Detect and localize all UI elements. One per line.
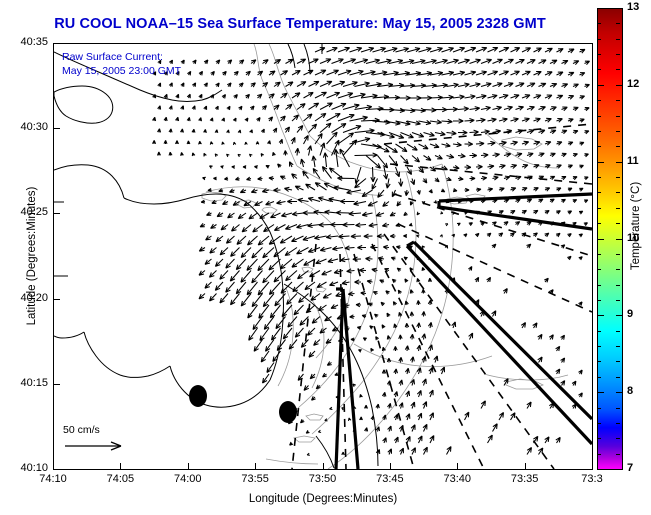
current-vector-arrow [453, 47, 465, 52]
current-vector-arrow [231, 294, 240, 305]
current-vector-arrow [315, 48, 325, 52]
current-vector-arrow [488, 118, 497, 122]
current-vector-arrow [511, 71, 520, 75]
current-vector-arrow [224, 177, 228, 180]
current-vector-arrow [338, 234, 349, 238]
current-vector-arrow [417, 323, 421, 328]
current-vector-arrow [533, 233, 537, 237]
current-vector-arrow [273, 128, 277, 133]
current-vector-arrow [153, 117, 156, 121]
current-vector-arrow [401, 156, 409, 164]
current-vector-arrow [211, 71, 215, 75]
current-vector-arrow [232, 225, 240, 232]
current-vector-arrow [257, 94, 262, 98]
colorbar-minor-tick [616, 438, 620, 439]
current-vector-arrow [521, 323, 525, 329]
current-vector-arrow [254, 340, 262, 352]
current-vector-arrow [376, 449, 380, 454]
current-vector-arrow [263, 60, 269, 64]
current-vector-arrow [504, 83, 513, 87]
current-vector-arrow [488, 188, 493, 192]
current-vector-arrow [492, 244, 496, 248]
x-axis-label: Longitude (Degrees:Minutes) [53, 493, 593, 505]
current-vector-arrow [192, 83, 195, 87]
current-vector-arrow [292, 174, 297, 179]
current-vector-arrow [397, 268, 401, 272]
current-vector-arrow [561, 335, 565, 340]
current-vector-arrow [309, 59, 319, 64]
current-vector-arrow [419, 144, 429, 149]
current-vector-arrow [580, 142, 584, 145]
current-vector-arrow [286, 82, 294, 87]
current-vector-arrow [269, 94, 274, 99]
current-vector-arrow [557, 142, 562, 146]
current-vector-arrow [281, 213, 292, 217]
current-vector-arrow [511, 188, 516, 192]
current-vector-arrow [476, 188, 481, 192]
current-vector-arrow [488, 165, 495, 169]
current-vector-arrow [465, 142, 473, 146]
current-vector-arrow [423, 179, 427, 184]
current-vector-arrow [291, 137, 295, 144]
current-vector-arrow [332, 327, 338, 331]
current-vector-arrow [516, 106, 524, 110]
current-vector-arrow [222, 118, 225, 122]
current-vector-arrow [308, 223, 320, 227]
current-vector-arrow [567, 256, 571, 260]
x-tick-mark [188, 463, 189, 469]
current-vector-arrow [503, 289, 507, 294]
current-vector-arrow [353, 257, 361, 261]
current-vector-arrow [227, 130, 230, 133]
current-vector-arrow [435, 59, 448, 63]
current-vector-arrow [434, 200, 437, 203]
current-vector-arrow [226, 236, 234, 243]
current-vector-arrow [493, 83, 503, 87]
current-vector-arrow [403, 235, 407, 238]
current-vector-arrow [260, 213, 269, 219]
current-vector-arrow [487, 277, 491, 282]
current-vector-arrow [158, 129, 161, 133]
current-vector-arrow [394, 369, 398, 374]
current-vector-arrow [319, 305, 327, 311]
current-vector-arrow [355, 153, 378, 157]
current-vector-arrow [430, 48, 443, 53]
current-vector-arrow [476, 95, 486, 99]
current-vector-arrow [216, 236, 223, 242]
current-vector-arrow [499, 118, 507, 122]
colorbar-minor-tick [616, 254, 620, 255]
colorbar-tick-label: 13 [627, 1, 639, 13]
current-vector-arrow [539, 153, 545, 157]
current-vector-arrow [259, 305, 269, 318]
x-tick-label: 73:35 [500, 473, 550, 485]
current-vector-arrow [393, 302, 396, 306]
current-vector-arrow [181, 60, 184, 64]
current-vector-arrow [274, 105, 279, 110]
current-vector-arrow [306, 184, 315, 190]
current-vector-arrow [262, 189, 269, 193]
current-vector-arrow [309, 81, 319, 86]
x-tick-label: 73:3 [567, 473, 617, 485]
current-vector-arrow [199, 294, 205, 299]
colorbar-minor-tick [616, 361, 620, 362]
current-vector-arrow [417, 235, 420, 237]
current-vector-arrow [308, 146, 312, 156]
current-vector-arrow [481, 222, 485, 225]
current-vector-arrow [405, 368, 409, 374]
current-vector-arrow [327, 48, 338, 53]
current-vector-arrow [488, 141, 496, 145]
current-vector-arrow [204, 60, 208, 64]
current-vector-arrow [239, 106, 243, 110]
current-vector-arrow [390, 234, 395, 238]
current-vector-arrow [350, 315, 355, 319]
current-vector-arrow [573, 177, 577, 180]
current-vector-arrow [251, 83, 256, 87]
current-vector-arrow [384, 167, 388, 179]
current-vector-arrow [417, 345, 421, 351]
colorbar-minor-tick [616, 100, 620, 101]
current-vector-arrow [277, 340, 285, 351]
current-vector-arrow [481, 200, 486, 203]
current-vector-arrow [238, 154, 241, 157]
current-vector-arrow [314, 235, 326, 239]
current-vector-arrow [516, 199, 521, 203]
current-vector-arrow [187, 94, 190, 98]
current-vector-arrow [181, 83, 184, 87]
x-tick-mark [323, 463, 324, 469]
colorbar-minor-tick [616, 223, 620, 224]
current-vector-arrow [387, 313, 390, 317]
current-vector-arrow [323, 294, 331, 299]
colorbar-tick-mark [597, 239, 604, 240]
current-vector-arrow [382, 223, 389, 227]
figure-title: RU COOL NOAA–15 Sea Surface Temperature:… [0, 16, 600, 32]
current-vector-arrow [527, 199, 532, 203]
current-vector-arrow [404, 257, 408, 260]
current-vector-arrow [258, 71, 263, 75]
current-vector-arrow [580, 96, 585, 100]
current-vector-arrow [349, 212, 361, 216]
current-vector-arrow [318, 430, 321, 432]
current-vector-arrow [585, 61, 590, 64]
current-vector-arrow [343, 223, 355, 227]
current-vector-arrow [213, 177, 216, 180]
current-vector-arrow [286, 104, 293, 109]
current-vector-arrow [561, 245, 565, 249]
current-vector-arrow [465, 165, 471, 169]
current-vector-arrow [470, 59, 481, 63]
current-vector-arrow [316, 259, 327, 264]
current-vector-arrow [568, 72, 574, 76]
current-vector-arrow [481, 106, 491, 110]
current-vector-arrow [534, 141, 540, 145]
current-vector-arrow [263, 83, 268, 88]
current-vector-arrow [314, 340, 320, 346]
current-vector-arrow [254, 166, 257, 169]
current-vector-arrow [285, 225, 297, 230]
current-vector-arrow [499, 48, 509, 53]
current-vector-arrow [350, 138, 371, 144]
current-vector-arrow [215, 130, 218, 133]
current-vector-arrow [434, 356, 438, 363]
current-vector-arrow [511, 48, 520, 52]
current-vector-arrow [504, 222, 508, 226]
current-vector-arrow [371, 348, 374, 352]
current-vector-arrow [215, 282, 223, 290]
current-vector-arrow [204, 153, 206, 156]
current-vector-arrow [383, 202, 389, 207]
current-vector-arrow [428, 300, 432, 305]
colorbar-minor-tick [597, 146, 601, 147]
current-vector-arrow [286, 271, 297, 281]
current-vector-arrow [192, 153, 195, 156]
current-vector-arrow [429, 189, 432, 193]
current-vector-arrow [545, 233, 549, 237]
current-vector-arrow [579, 188, 583, 191]
current-vector-arrow [331, 304, 338, 308]
current-vector-arrow [550, 107, 556, 111]
current-vector-arrow [169, 106, 172, 110]
current-vector-arrow [280, 259, 292, 269]
y-tick-mark [54, 384, 60, 385]
colorbar-minor-tick [616, 300, 620, 301]
current-vector-arrow [573, 84, 579, 88]
current-vector-arrow [522, 118, 530, 122]
current-vector-arrow [452, 322, 456, 328]
current-vector-arrow [314, 210, 327, 214]
current-vector-arrow [303, 236, 315, 241]
current-vector-arrow [493, 176, 499, 180]
y-tick-mark [54, 299, 60, 300]
current-vector-arrow [220, 271, 228, 280]
current-vector-arrow [533, 210, 538, 214]
current-vector-arrow [405, 279, 408, 283]
x-tick-mark [255, 463, 256, 469]
y-tick-label: 40:15 [4, 377, 48, 389]
current-vector-arrow [562, 107, 568, 111]
current-vector-arrow [404, 212, 408, 216]
current-vector-arrow [262, 106, 266, 110]
current-vector-arrow [193, 60, 197, 64]
current-vector-arrow [386, 291, 390, 295]
current-vector-arrow [562, 130, 567, 134]
current-vector-arrow [222, 71, 226, 75]
current-vector-arrow [417, 300, 421, 305]
current-vector-arrow [458, 59, 470, 63]
current-vector-arrow [247, 282, 257, 295]
current-vector-arrow [263, 294, 274, 307]
current-vector-arrow [481, 401, 485, 409]
current-vector-arrow [331, 223, 344, 227]
current-vector-arrow [557, 72, 564, 76]
current-vector-arrow [370, 245, 377, 249]
current-vector-arrow [511, 211, 516, 215]
current-vector-arrow [412, 133, 424, 138]
current-vector-arrow [320, 103, 332, 110]
current-vector-arrow [153, 72, 156, 76]
current-vector-arrow [481, 130, 490, 134]
colorbar-minor-tick [597, 361, 601, 362]
current-vector-arrow [332, 59, 344, 64]
current-vector-arrow [187, 117, 190, 121]
current-vector-arrow [580, 119, 585, 122]
current-vector-arrow [422, 289, 425, 293]
current-vector-arrow [370, 326, 374, 329]
current-vector-arrow [285, 127, 290, 133]
current-vector-arrow [315, 70, 326, 75]
current-vector-arrow [545, 188, 550, 191]
colorbar-minor-tick [616, 208, 620, 209]
current-vector-arrow [476, 71, 487, 75]
current-vector-arrow [363, 338, 367, 341]
current-vector-arrow [236, 282, 246, 294]
current-vector-arrow [276, 317, 286, 329]
current-vector-arrow [447, 177, 452, 180]
current-vector-arrow [511, 141, 518, 145]
current-vector-arrow [573, 154, 578, 157]
current-vector-arrow [227, 154, 230, 157]
current-vector-arrow [550, 84, 557, 88]
current-vector-arrow [527, 153, 533, 157]
current-vector-arrow [257, 118, 261, 122]
current-vector-arrow [227, 106, 230, 110]
current-vector-arrow [357, 326, 361, 329]
current-vector-arrow [164, 94, 167, 98]
x-tick-label: 73:55 [230, 473, 280, 485]
current-vector-arrow [359, 268, 366, 272]
current-vector-arrow [359, 350, 362, 353]
current-vector-arrow [258, 259, 269, 271]
current-vector-arrow [400, 448, 404, 454]
current-vector-arrow [405, 190, 409, 196]
current-vector-arrow [362, 190, 372, 197]
current-vector-arrow [585, 108, 590, 111]
current-vector-arrow [205, 259, 212, 264]
current-vector-arrow [447, 83, 459, 87]
current-vector-arrow [510, 233, 514, 237]
current-vector-arrow [211, 224, 217, 228]
current-vector-arrow [585, 154, 589, 157]
current-vector-arrow [220, 294, 228, 304]
current-vector-arrow [245, 142, 247, 145]
x-tick-label: 74:00 [163, 473, 213, 485]
colorbar-minor-tick [597, 269, 601, 270]
current-vector-arrow [290, 162, 294, 167]
colorbar-minor-tick [597, 177, 601, 178]
current-vector-arrow [387, 358, 390, 362]
colorbar-minor-tick [616, 69, 620, 70]
current-vector-arrow [392, 190, 396, 197]
current-vector-arrow [238, 130, 241, 133]
current-vector-arrow [240, 189, 246, 193]
current-vector-arrow [488, 95, 498, 99]
current-vector-arrow [297, 248, 309, 254]
current-vector-arrow [258, 282, 269, 295]
current-vector-arrow [539, 83, 546, 87]
current-vector-arrow [242, 225, 251, 232]
current-vector-arrow [522, 48, 531, 52]
current-vector-arrow [382, 325, 385, 329]
current-vector-arrow [545, 48, 552, 52]
current-vector-arrow [447, 154, 454, 158]
current-vector-arrow [364, 234, 373, 238]
current-vector-arrow [249, 328, 258, 340]
current-vector-arrow [430, 71, 443, 75]
current-vector-arrow [584, 223, 588, 226]
current-vector-arrow [469, 333, 473, 340]
current-vector-arrow [292, 93, 300, 98]
current-vector-arrow [315, 92, 327, 98]
current-vector-arrow [424, 156, 432, 161]
current-vector-arrow [272, 328, 281, 340]
colorbar-minor-tick [597, 300, 601, 301]
current-vector-arrow [504, 59, 514, 63]
map-plot-area[interactable]: Raw Surface Current: May 15, 2005 23:00 … [53, 43, 593, 470]
current-vector-arrow [301, 159, 305, 167]
current-vector-arrow [176, 117, 179, 121]
current-vector-arrow [274, 271, 286, 283]
current-vector-arrow [515, 222, 519, 226]
surface-current-vectors [153, 47, 590, 455]
current-vector-arrow [351, 234, 361, 238]
current-vector-arrow [488, 71, 498, 75]
current-vector-arrow [556, 369, 560, 374]
current-vector-arrow [447, 107, 458, 111]
current-vector-arrow [527, 130, 534, 134]
current-vector-arrow [232, 166, 235, 169]
current-vector-arrow [347, 269, 355, 273]
colorbar-minor-tick [597, 116, 601, 117]
current-vector-arrow [573, 61, 579, 65]
current-vector-arrow [284, 151, 288, 156]
colorbar-minor-tick [597, 438, 601, 439]
current-vector-arrow [522, 165, 528, 169]
colorbar-minor-tick [597, 208, 601, 209]
current-vector-arrow [470, 130, 479, 134]
current-vector-arrow [355, 167, 361, 184]
colorbar-minor-tick [597, 285, 601, 286]
current-vector-arrow [422, 246, 425, 249]
current-vector-arrow [210, 294, 217, 302]
current-vector-arrow [568, 96, 574, 100]
colorbar-minor-tick [597, 223, 601, 224]
current-vector-arrow [288, 317, 297, 328]
current-vector-arrow [458, 154, 465, 158]
current-vector-arrow [337, 176, 354, 180]
current-vector-arrow [534, 48, 542, 52]
current-vector-arrow [396, 48, 409, 52]
current-vector-arrow [368, 202, 377, 206]
current-vector-arrow [243, 166, 246, 169]
current-vector-arrow [281, 116, 286, 121]
current-vector-arrow [245, 94, 249, 98]
current-vector-arrow [266, 340, 275, 352]
current-vector-arrow [241, 271, 251, 283]
colorbar-tick-label: 8 [627, 385, 633, 397]
current-vector-arrow [349, 418, 351, 421]
x-tick-mark [390, 463, 391, 469]
current-vector-arrow [516, 60, 525, 64]
current-vector-arrow [476, 118, 485, 122]
current-vector-arrow [231, 248, 240, 257]
current-vector-arrow [504, 199, 509, 202]
current-vector-arrow [499, 233, 503, 237]
current-vector-arrow [269, 177, 274, 181]
current-vector-arrow [287, 294, 297, 305]
y-tick-label: 40:30 [4, 121, 48, 133]
